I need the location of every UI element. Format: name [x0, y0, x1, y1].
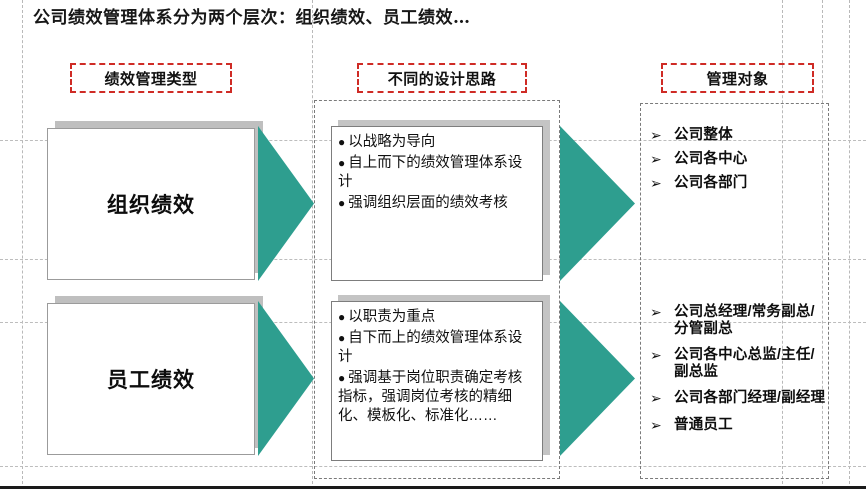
category-label-staff: 员工绩效 [107, 364, 195, 394]
object-label: 公司各部门 [674, 175, 748, 192]
arrow-bullet-icon: ➢ [650, 175, 674, 193]
object-label: 公司各中心总监/主任/副总监 [674, 347, 828, 381]
arrow-bullet-icon: ➢ [650, 151, 674, 169]
design-point: ●自上而下的绩效管理体系设计 [338, 154, 534, 192]
header-performance-type-label: 绩效管理类型 [104, 68, 197, 89]
design-point-text: 强调基于岗位职责确定考核指标，强调岗位考核的精细化、模板化、标准化…… [338, 370, 522, 424]
list-item: ➢ 公司各中心 [650, 151, 828, 169]
design-box-staff[interactable]: ●以职责为重点 ●自下而上的绩效管理体系设计 ●强调基于岗位职责确定考核指标，强… [331, 301, 543, 461]
design-point: ●强调基于岗位职责确定考核指标，强调岗位考核的精细化、模板化、标准化…… [338, 369, 534, 426]
list-item: ➢ 公司各部门经理/副经理 [650, 390, 828, 408]
arrow-bullet-icon: ➢ [650, 347, 674, 365]
header-design-approach: 不同的设计思路 [357, 63, 527, 93]
arrow-bullet-icon: ➢ [650, 390, 674, 408]
list-item: ➢ 公司总经理/常务副总/分管副总 [650, 304, 828, 338]
bullet-icon: ● [338, 135, 348, 149]
header-performance-type: 绩效管理类型 [70, 63, 232, 93]
bullet-icon: ● [338, 310, 348, 324]
design-point-text: 强调组织层面的绩效考核 [348, 195, 508, 211]
object-label: 公司总经理/常务副总/分管副总 [674, 304, 828, 338]
arrow-bullet-icon: ➢ [650, 304, 674, 322]
slide-canvas: 公司绩效管理体系分为两个层次：组织绩效、员工绩效… 绩效管理类型 不同的设计思路… [0, 0, 866, 489]
object-list-staff: ➢ 公司总经理/常务副总/分管副总 ➢ 公司各中心总监/主任/副总监 ➢ 公司各… [650, 304, 828, 444]
design-box-org[interactable]: ●以战略为导向 ●自上而下的绩效管理体系设计 ●强调组织层面的绩效考核 [331, 126, 543, 281]
design-box-face: ●以职责为重点 ●自下而上的绩效管理体系设计 ●强调基于岗位职责确定考核指标，强… [331, 301, 543, 461]
guide-vertical [22, 0, 23, 489]
design-point-text: 以战略为导向 [348, 134, 435, 150]
design-point: ●自下而上的绩效管理体系设计 [338, 329, 534, 367]
triangle-right-icon [258, 126, 314, 281]
guide-vertical [849, 0, 850, 489]
bullet-icon: ● [338, 156, 348, 170]
page-title: 公司绩效管理体系分为两个层次：组织绩效、员工绩效… [33, 3, 471, 28]
list-item: ➢ 公司各中心总监/主任/副总监 [650, 347, 828, 381]
object-label: 公司各中心 [674, 151, 748, 168]
category-label-org: 组织绩效 [107, 189, 195, 219]
bullet-icon: ● [338, 371, 348, 385]
list-item: ➢ 公司各部门 [650, 175, 828, 193]
design-point: ●强调组织层面的绩效考核 [338, 194, 534, 213]
category-box-face: 员工绩效 [47, 303, 255, 455]
design-point-text: 自下而上的绩效管理体系设计 [338, 330, 522, 365]
design-point-text: 以职责为重点 [348, 309, 435, 325]
object-list-org: ➢ 公司整体 ➢ 公司各中心 ➢ 公司各部门 [650, 127, 828, 199]
arrow-bullet-icon: ➢ [650, 417, 674, 435]
list-item: ➢ 公司整体 [650, 127, 828, 145]
arrow-bullet-icon: ➢ [650, 127, 674, 145]
object-label: 公司整体 [674, 127, 733, 144]
header-design-approach-label: 不同的设计思路 [388, 68, 497, 89]
design-point-text: 自上而下的绩效管理体系设计 [338, 155, 522, 190]
design-box-face: ●以战略为导向 ●自上而下的绩效管理体系设计 ●强调组织层面的绩效考核 [331, 126, 543, 281]
design-point: ●以职责为重点 [338, 308, 534, 327]
object-label: 公司各部门经理/副经理 [674, 390, 825, 407]
bullet-icon: ● [338, 196, 348, 210]
object-label: 普通员工 [674, 417, 733, 434]
list-item: ➢ 普通员工 [650, 417, 828, 435]
category-box-face: 组织绩效 [47, 128, 255, 280]
bullet-icon: ● [338, 331, 348, 345]
design-point: ●以战略为导向 [338, 133, 534, 152]
category-box-staff[interactable]: 员工绩效 [47, 303, 255, 455]
category-box-org[interactable]: 组织绩效 [47, 128, 255, 280]
triangle-right-icon [258, 301, 314, 456]
triangle-right-icon [560, 301, 635, 456]
header-management-object-label: 管理对象 [706, 68, 768, 89]
header-management-object: 管理对象 [661, 63, 814, 93]
triangle-right-icon [560, 126, 635, 281]
